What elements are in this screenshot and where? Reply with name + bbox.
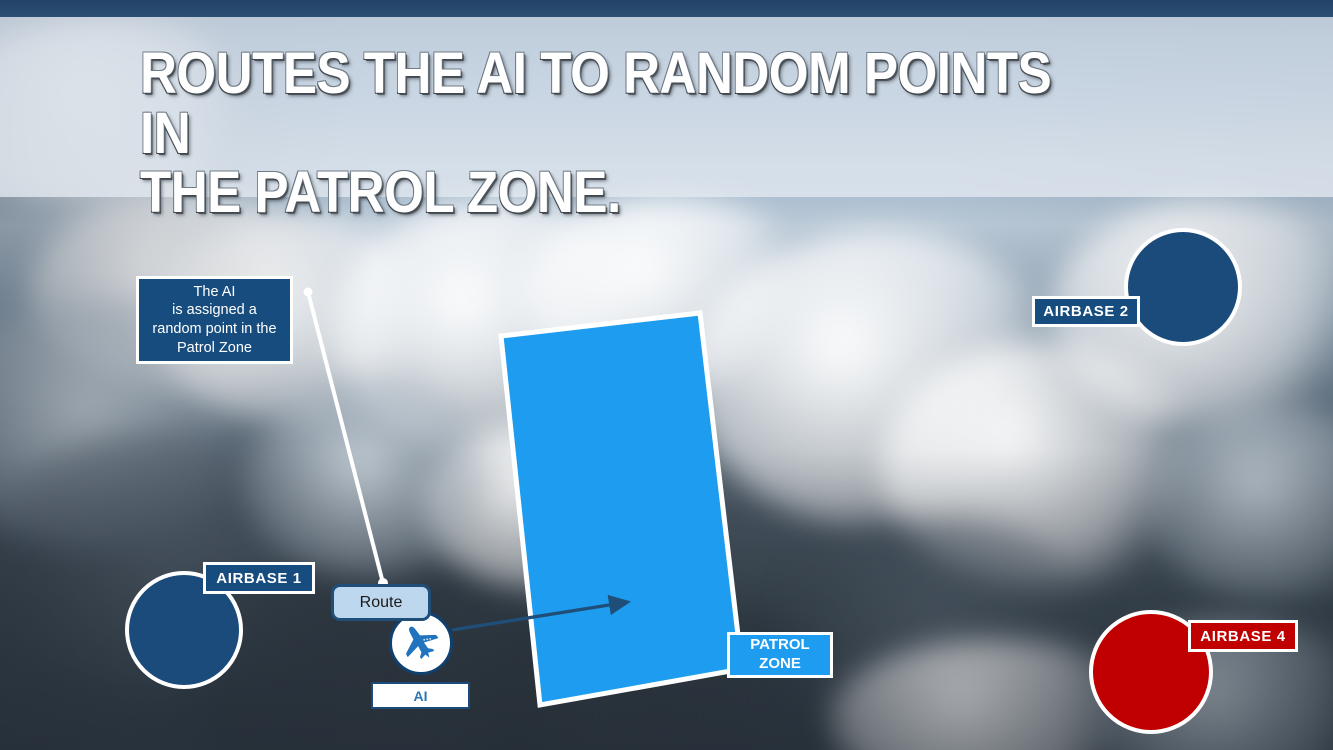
airbase-1-label-text: AIRBASE 1 <box>216 570 301 587</box>
airbase-4-label[interactable]: AIRBASE 4 <box>1188 620 1298 652</box>
top-accent-strip <box>0 0 1333 17</box>
ai-label[interactable]: AI <box>371 682 470 709</box>
callout-note-text: The AI is assigned a random point in the… <box>152 283 276 357</box>
leader-line-start-dot <box>304 288 313 297</box>
slide-canvas: The AI is assigned a random point in the… <box>0 0 1333 750</box>
patrol-zone-label-text: PATROL ZONE <box>750 636 809 674</box>
route-label-text: Route <box>360 594 403 612</box>
route-label[interactable]: Route <box>331 584 431 621</box>
airbase-2-label-text: AIRBASE 2 <box>1043 303 1128 320</box>
callout-note-box: The AI is assigned a random point in the… <box>136 276 293 364</box>
patrol-zone-label[interactable]: PATROL ZONE <box>727 632 833 678</box>
ai-label-text: AI <box>414 688 428 704</box>
patrol-zone-polygon[interactable] <box>501 313 742 705</box>
callout-leader-line <box>308 292 383 583</box>
airbase-2-marker[interactable] <box>1124 228 1242 346</box>
slide-title: ROUTES THE AI TO RANDOM POINTS IN THE PA… <box>140 44 1073 223</box>
fighter-jet-icon <box>399 621 443 665</box>
airbase-1-label[interactable]: AIRBASE 1 <box>203 562 315 594</box>
airbase-2-label[interactable]: AIRBASE 2 <box>1032 296 1140 327</box>
airbase-4-label-text: AIRBASE 4 <box>1200 628 1285 645</box>
